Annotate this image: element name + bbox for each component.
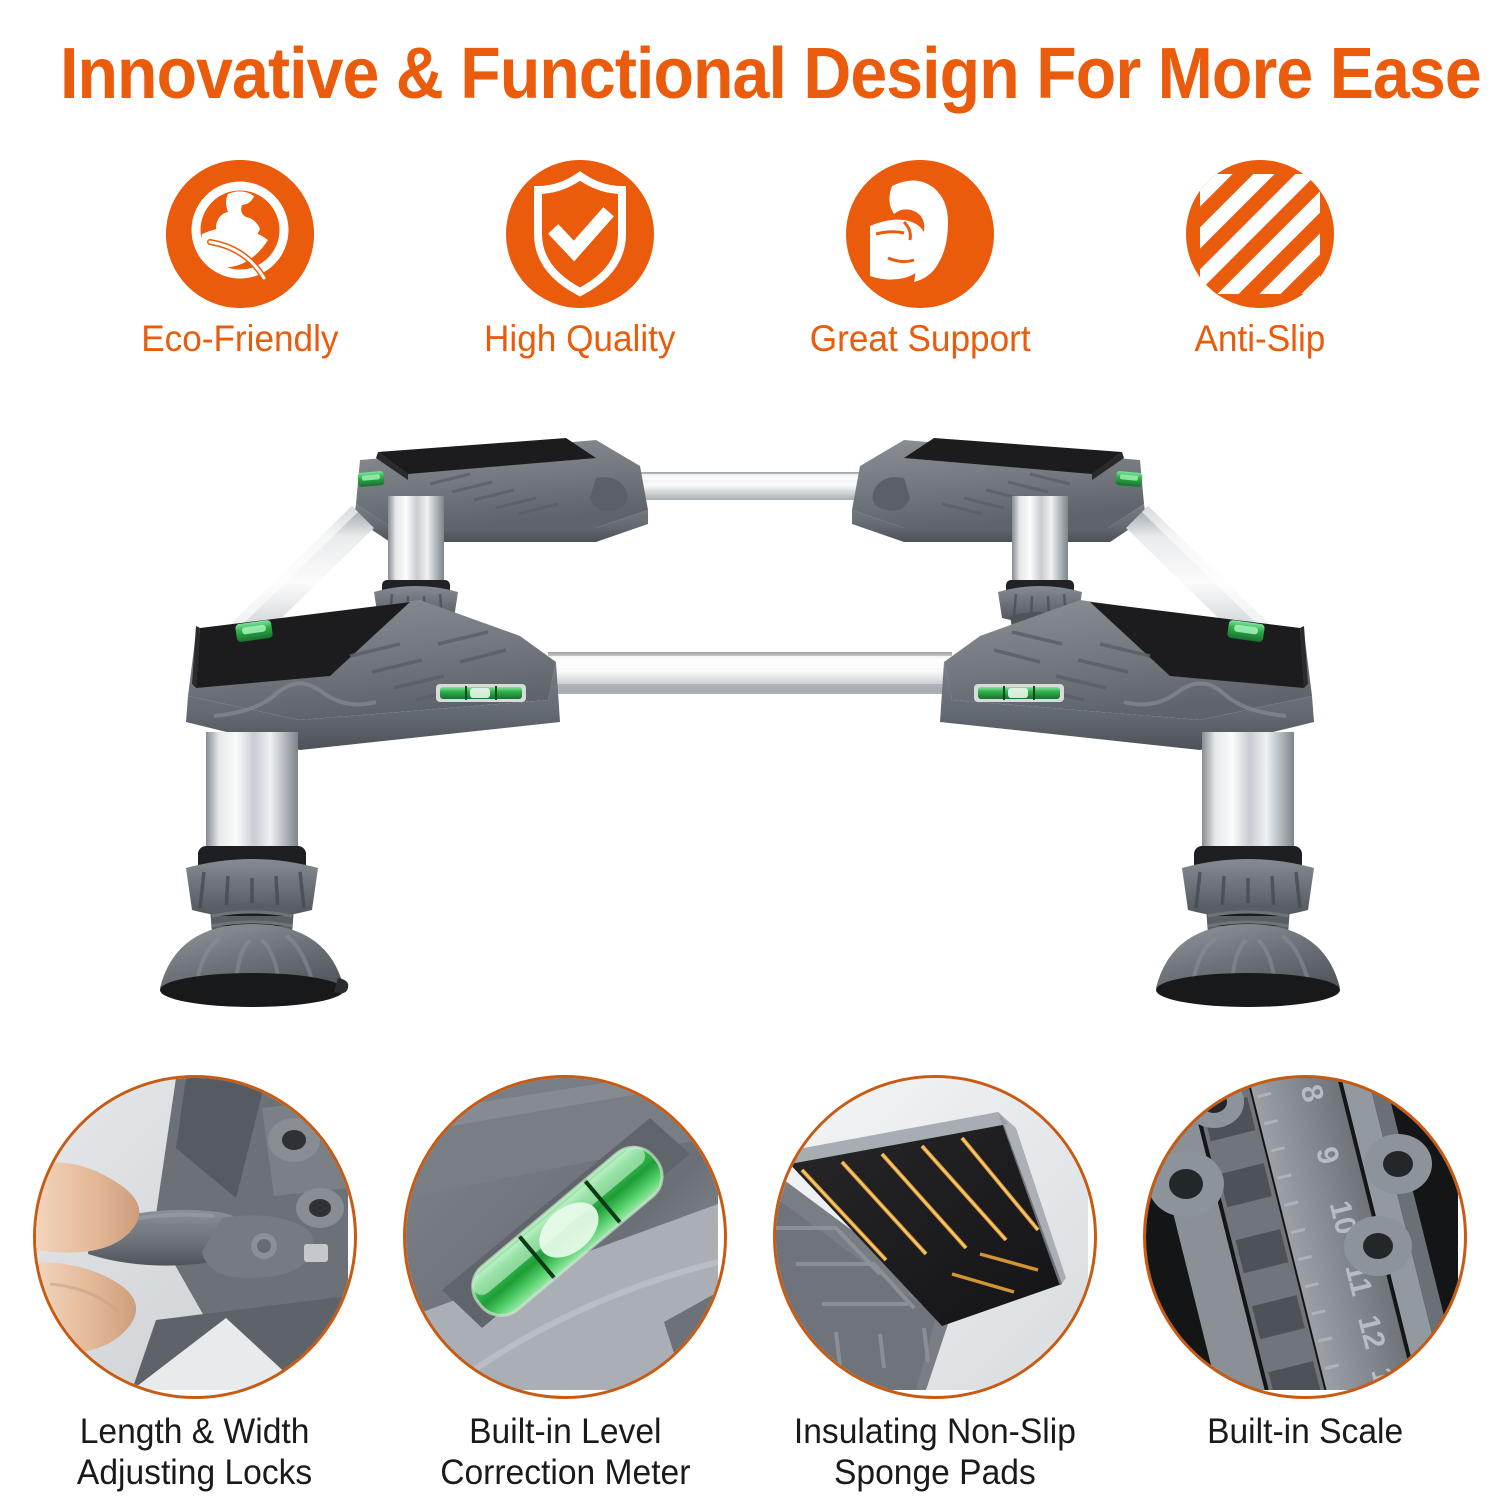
caption-line-2: Adjusting Locks xyxy=(77,1452,312,1493)
leg-front-left xyxy=(160,732,348,1007)
rail-front-bottom xyxy=(548,652,952,694)
page-title: Innovative & Functional Design For More … xyxy=(60,34,1440,114)
flexed-bicep-icon xyxy=(846,160,994,308)
feature-label: Eco-Friendly xyxy=(141,318,338,360)
caption-line-1: Built-in Level xyxy=(440,1411,690,1452)
feature-high-quality: High Quality xyxy=(410,160,750,360)
green-bubble-level-vial-photo xyxy=(403,1075,727,1399)
feature-eco-friendly: Eco-Friendly xyxy=(70,160,410,360)
detail-builtin-scale: 8 9 10 11 12 13 xyxy=(1120,1075,1490,1500)
feature-label: High Quality xyxy=(484,318,675,360)
black-sponge-pad-photo xyxy=(773,1075,1097,1399)
product-hero-image xyxy=(0,400,1500,1060)
detail-caption: Length & Width Adjusting Locks xyxy=(77,1411,312,1493)
caption-line-1: Length & Width xyxy=(77,1411,312,1452)
embossed-ruler-scale-photo: 8 9 10 11 12 13 xyxy=(1143,1075,1467,1399)
leg-front-right xyxy=(1156,732,1340,1007)
detail-caption: Built-in Scale xyxy=(1207,1411,1403,1452)
corner-bracket-rear-right xyxy=(852,438,1146,542)
diagonal-stripes-icon xyxy=(1186,160,1334,308)
rail-rear-top xyxy=(612,472,884,500)
caption-line-1: Insulating Non-Slip xyxy=(794,1411,1076,1452)
detail-caption: Insulating Non-Slip Sponge Pads xyxy=(794,1411,1076,1493)
detail-sponge-pads: Insulating Non-Slip Sponge Pads xyxy=(750,1075,1120,1500)
detail-adjusting-locks: Length & Width Adjusting Locks xyxy=(10,1075,380,1500)
shield-check-icon xyxy=(506,160,654,308)
detail-level-meter: Built-in Level Correction Meter xyxy=(380,1075,750,1500)
hand-gripping-lock-lever-photo xyxy=(33,1075,357,1399)
detail-caption: Built-in Level Correction Meter xyxy=(440,1411,690,1493)
feature-badges-row: Eco-Friendly High Quality xyxy=(0,160,1500,375)
feature-great-support: Great Support xyxy=(750,160,1090,360)
caption-line-1: Built-in Scale xyxy=(1207,1411,1403,1452)
caption-line-2: Correction Meter xyxy=(440,1452,690,1493)
caption-line-2: Sponge Pads xyxy=(794,1452,1076,1493)
detail-circles-row: Length & Width Adjusting Locks xyxy=(0,1075,1500,1500)
feature-label: Anti-Slip xyxy=(1195,318,1326,360)
globe-leaf-icon xyxy=(166,160,314,308)
feature-label: Great Support xyxy=(810,318,1031,360)
feature-anti-slip: Anti-Slip xyxy=(1090,160,1430,360)
